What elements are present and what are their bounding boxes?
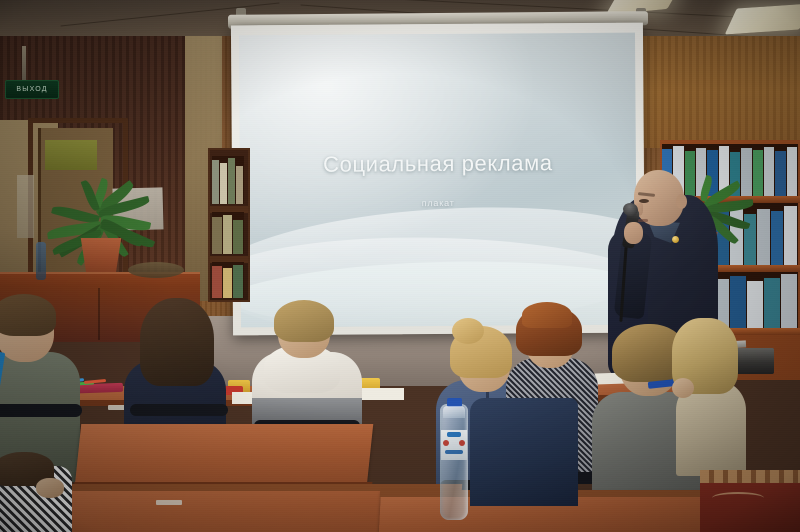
attendee-hair: [140, 298, 214, 386]
attendee-hair: [0, 294, 56, 336]
attendee-hand: [672, 378, 694, 398]
bookshelf-row: [212, 156, 244, 204]
book-spine: [775, 151, 785, 196]
bookcase-left: [208, 148, 250, 302]
book-spine: [747, 281, 763, 328]
book-spine: [233, 265, 243, 298]
book-row: [212, 212, 244, 254]
chair-back: [130, 404, 228, 416]
attendee-hair: [274, 300, 334, 342]
book-spine: [784, 206, 797, 265]
book-spine: [771, 211, 784, 265]
exit-sign-label: ВЫХОД: [16, 86, 47, 93]
desk-label: [156, 500, 182, 505]
counter-seam: [98, 288, 100, 340]
green-poster: [45, 140, 97, 170]
book-spine: [741, 148, 751, 196]
book-spine: [764, 278, 780, 328]
bookshelf-row: [212, 262, 244, 298]
book-spine: [212, 160, 219, 204]
desk-surface-middle: [75, 424, 374, 486]
book-spine: [685, 151, 695, 196]
book-spine: [233, 220, 243, 254]
chair-jacket-silhouette: [470, 398, 578, 506]
book-spine: [212, 217, 222, 254]
book-spine: [781, 274, 797, 328]
chair-back: [0, 404, 82, 417]
exit-sign: ВЫХОД: [5, 80, 59, 99]
book-spine: [757, 209, 770, 265]
bottle-neck: [443, 406, 465, 418]
presenter-ear: [676, 194, 687, 209]
hair-updo: [522, 302, 572, 328]
book-spine: [764, 147, 774, 196]
wall-notice-sheet: [17, 175, 34, 238]
book-spine: [223, 268, 233, 298]
rug-motif: [712, 492, 764, 504]
book-spine: [730, 276, 746, 328]
attendee-hand: [36, 478, 64, 498]
counter-object: [36, 242, 46, 280]
slide-subtitle: плакат: [240, 196, 636, 209]
slide-title: Социальная реклама: [240, 149, 636, 178]
book-spine: [228, 158, 235, 204]
book-row: [212, 262, 244, 298]
projected-slide: Социальная реклама плакат: [239, 33, 637, 328]
book-spine: [220, 163, 227, 204]
rug-border: [700, 470, 800, 483]
lapel-pin: [672, 236, 679, 243]
hair-bun: [452, 318, 484, 344]
book-spine: [223, 215, 233, 254]
presenter-hand: [624, 222, 643, 244]
right-wall-wood-panel: [640, 36, 800, 148]
book-spine: [787, 147, 797, 196]
book-spine: [753, 150, 763, 196]
ceiling-light-fixture: [725, 4, 800, 35]
photo-scene: ВЫХОД Социальная реклама плакат: [0, 0, 800, 532]
book-row: [212, 156, 244, 204]
projection-screen: Социальная реклама плакат: [231, 23, 645, 336]
bookshelf-row: [212, 212, 244, 254]
bottle-label: [441, 430, 467, 460]
book-spine: [212, 266, 222, 298]
book-spine: [236, 166, 243, 204]
exit-sign-rod: [22, 46, 26, 82]
decorative-tray: [128, 262, 184, 278]
